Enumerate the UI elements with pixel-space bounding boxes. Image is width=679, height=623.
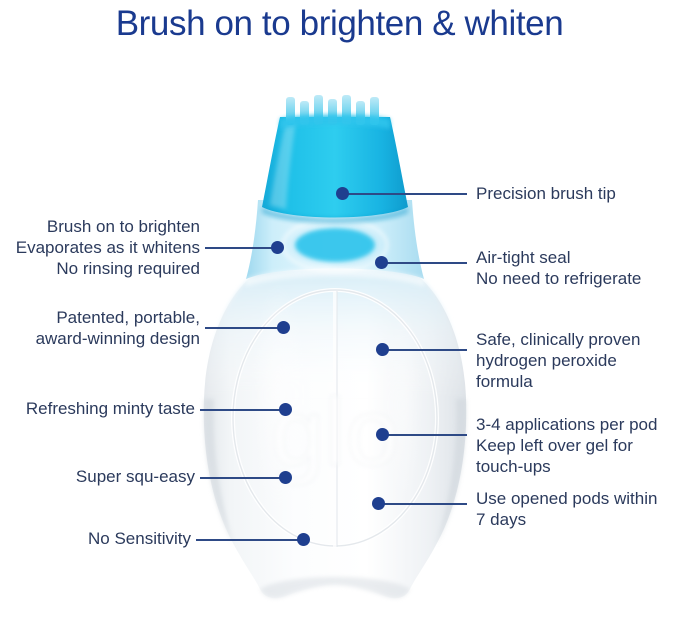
leader-line-brush-on-to-brighten [205, 247, 277, 249]
leader-dot-hydrogen-peroxide-formula [376, 343, 389, 356]
callout-applications-per-pod: 3-4 applications per pod Keep left over … [476, 414, 676, 477]
callout-use-opened-pods: Use opened pods within 7 days [476, 488, 676, 530]
callout-super-squ-easy: Super squ-easy [0, 466, 195, 487]
callout-precision-brush-tip: Precision brush tip [476, 183, 676, 204]
callout-refreshing-minty-taste: Refreshing minty taste [0, 398, 195, 419]
callout-no-sensitivity: No Sensitivity [0, 528, 191, 549]
leader-dot-use-opened-pods [372, 497, 385, 510]
leader-line-use-opened-pods [378, 503, 467, 505]
product-svg: glo [190, 95, 480, 623]
leader-line-super-squ-easy [200, 477, 285, 479]
callout-hydrogen-peroxide-formula: Safe, clinically proven hydrogen peroxid… [476, 329, 671, 392]
leader-line-precision-brush-tip [342, 193, 467, 195]
leader-line-air-tight-seal [381, 262, 467, 264]
page-title: Brush on to brighten & whiten [0, 2, 679, 46]
callout-patented-portable: Patented, portable, award-winning design [0, 307, 200, 349]
leader-line-applications-per-pod [382, 434, 467, 436]
leader-dot-no-sensitivity [297, 533, 310, 546]
brush-bristles [280, 95, 390, 129]
leader-line-no-sensitivity [196, 539, 303, 541]
callout-brush-on-to-brighten: Brush on to brighten Evaporates as it wh… [0, 216, 200, 279]
leader-dot-air-tight-seal [375, 256, 388, 269]
leader-dot-precision-brush-tip [336, 187, 349, 200]
leader-dot-patented-portable [277, 321, 290, 334]
pod-highlight-left [252, 283, 304, 507]
product-illustration: glo [190, 95, 480, 623]
leader-line-refreshing-minty-taste [200, 409, 285, 411]
seal-collar-oval [295, 228, 375, 262]
cyan-cap [262, 117, 408, 224]
leader-dot-refreshing-minty-taste [279, 403, 292, 416]
leader-line-hydrogen-peroxide-formula [382, 349, 467, 351]
leader-dot-super-squ-easy [279, 471, 292, 484]
leader-dot-brush-on-to-brighten [271, 241, 284, 254]
leader-line-patented-portable [205, 327, 283, 329]
pod-highlight-right [386, 310, 422, 500]
callout-air-tight-seal: Air-tight seal No need to refrigerate [476, 247, 679, 289]
leader-dot-applications-per-pod [376, 428, 389, 441]
